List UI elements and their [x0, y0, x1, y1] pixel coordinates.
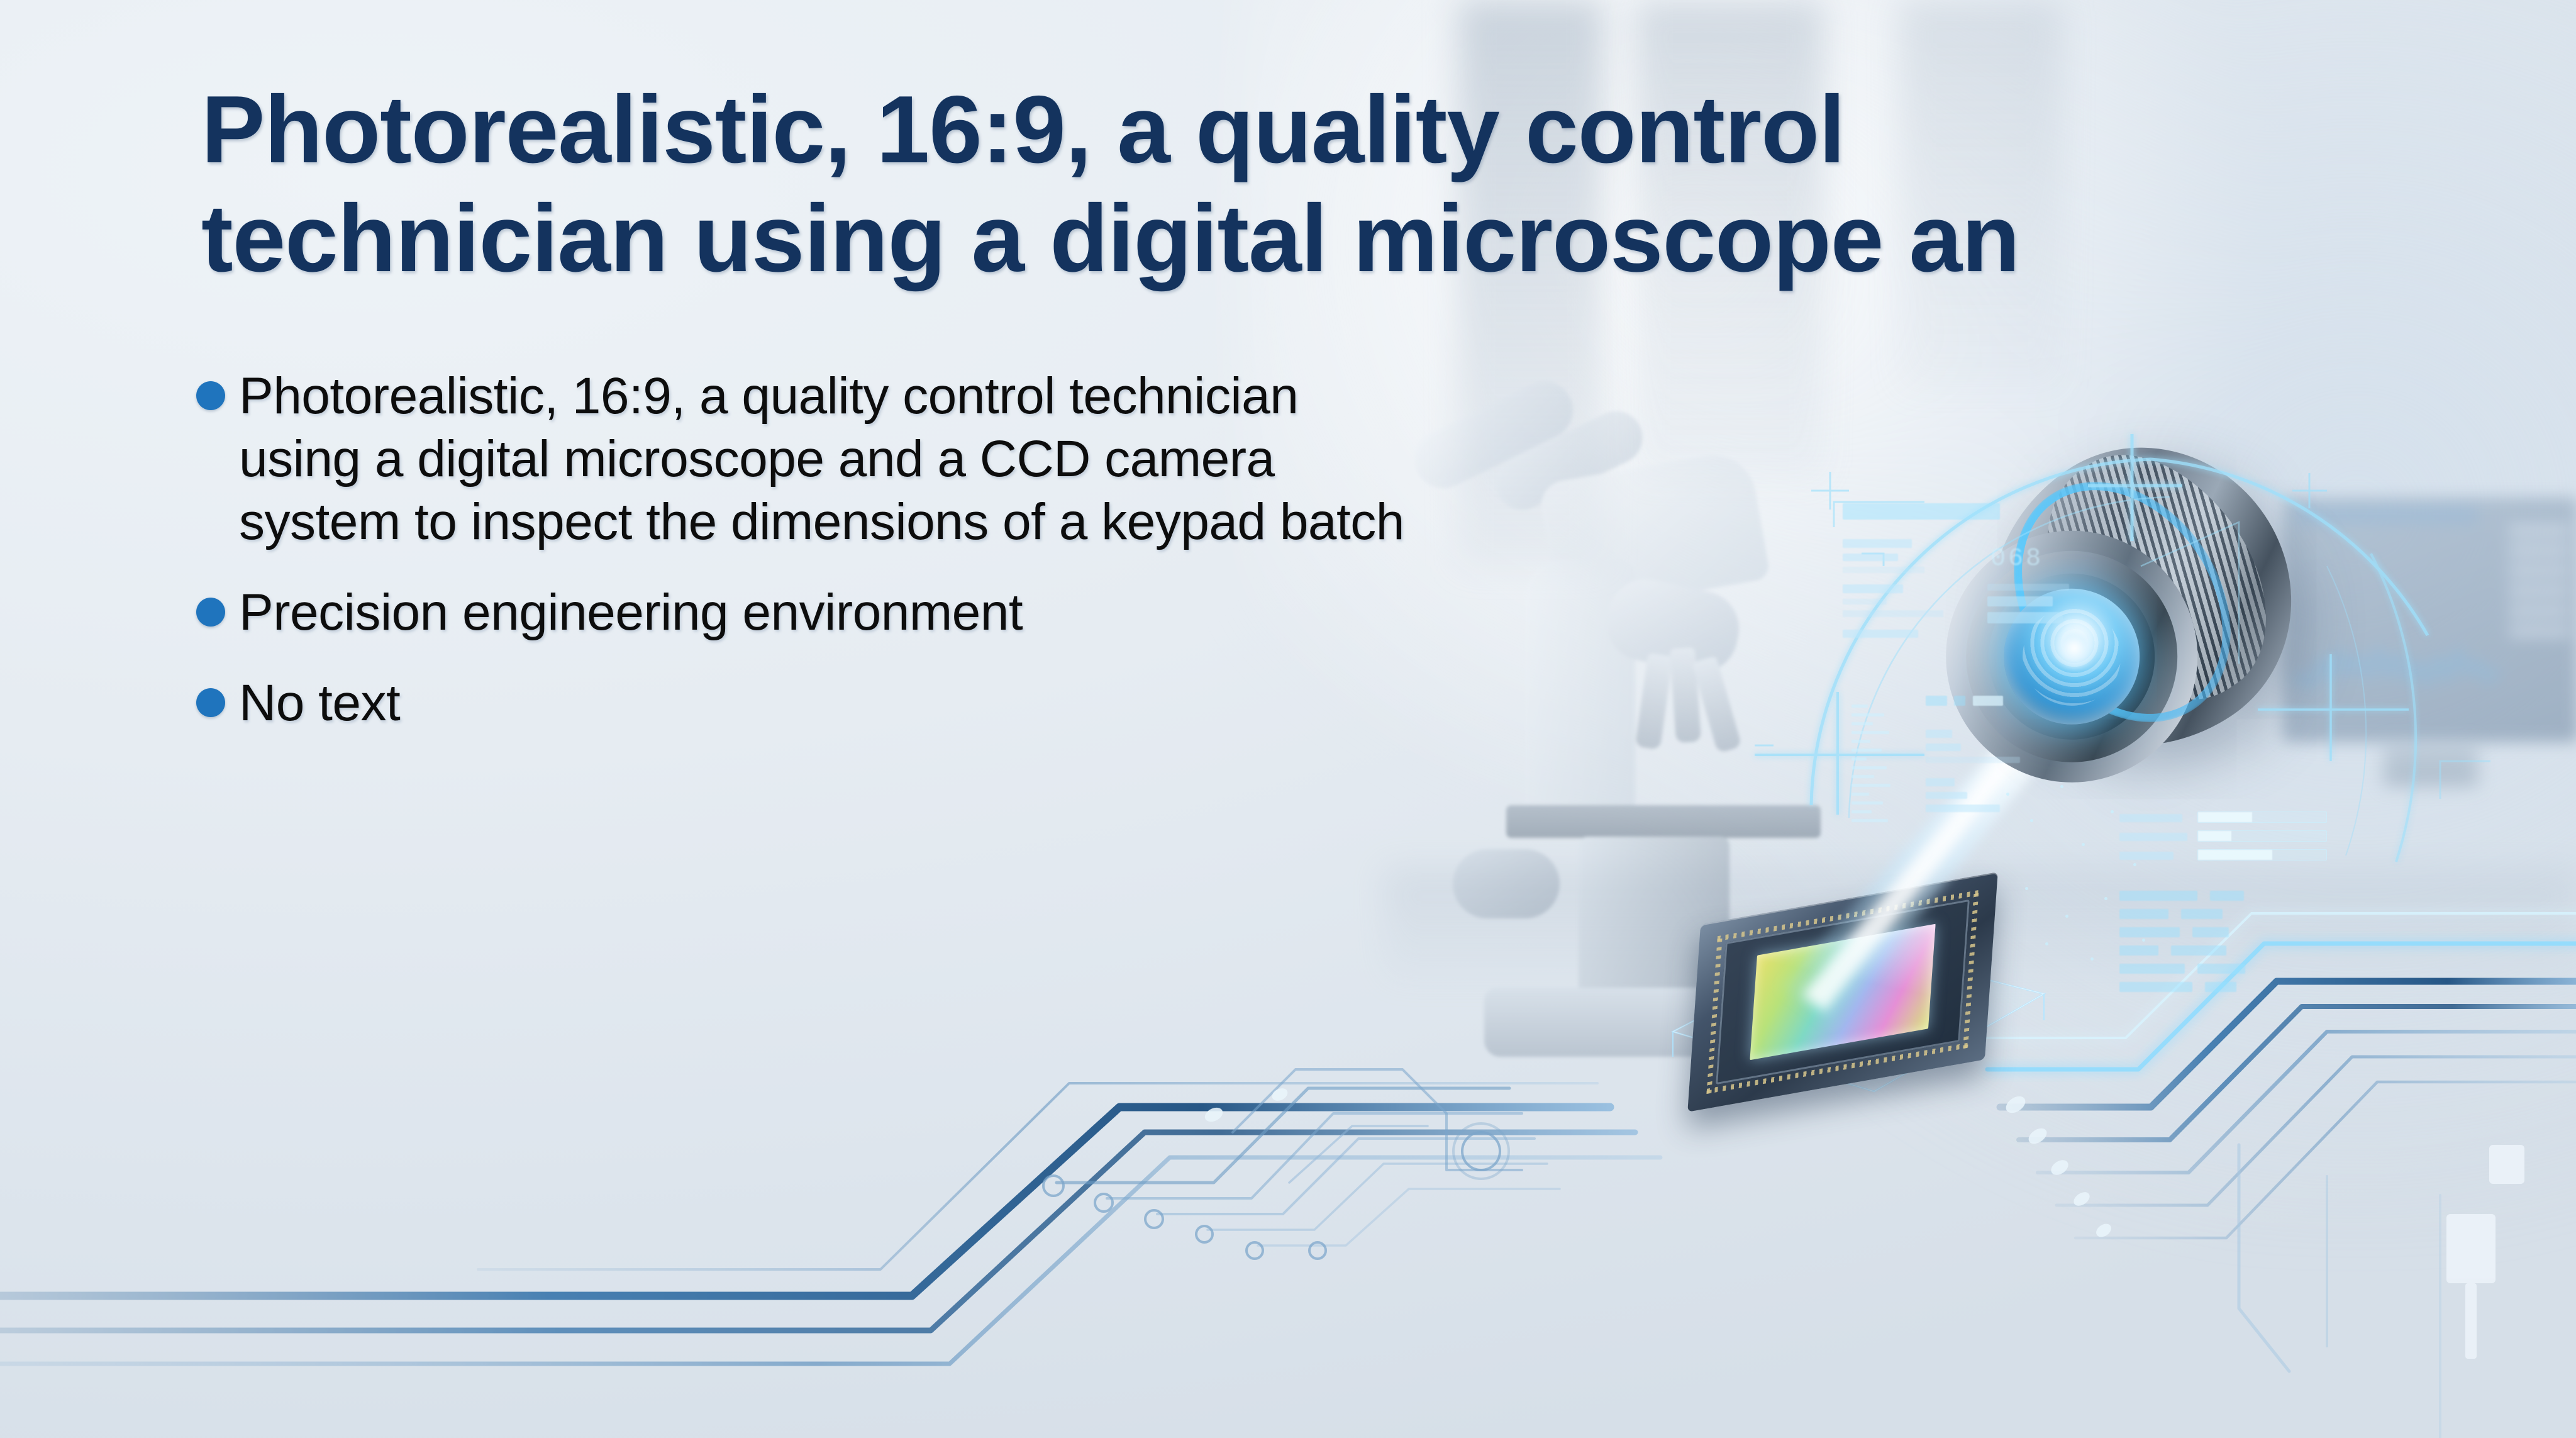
microscope — [1390, 371, 1868, 975]
presentation-slide: 068 — [0, 0, 2576, 1438]
page-title: Photorealistic, 16:9, a quality control … — [201, 75, 2296, 294]
bullet-marker-icon — [196, 381, 225, 410]
list-item: Precision engineering environment — [196, 581, 1423, 644]
bullet-text: Precision engineering environment — [239, 581, 1023, 644]
bullet-marker-icon — [196, 598, 225, 627]
monitor-stand — [2384, 742, 2478, 786]
list-item: No text — [196, 672, 1423, 735]
hud-key-value-table — [2119, 891, 2327, 992]
microscope-focus-knob — [1453, 849, 1560, 918]
microscope-objective-3 — [1692, 655, 1742, 753]
bullet-text: Photorealistic, 16:9, a quality control … — [239, 365, 1423, 554]
microscope-stage — [1506, 805, 1821, 838]
bullet-list: Photorealistic, 16:9, a quality control … — [196, 365, 1423, 762]
bullet-text: No text — [239, 672, 400, 735]
bullet-marker-icon — [196, 688, 225, 717]
camera-lens — [1874, 434, 2352, 874]
monitor-side-readouts — [2509, 525, 2570, 682]
microscope-objective-1 — [1635, 653, 1673, 750]
list-item: Photorealistic, 16:9, a quality control … — [196, 365, 1423, 554]
